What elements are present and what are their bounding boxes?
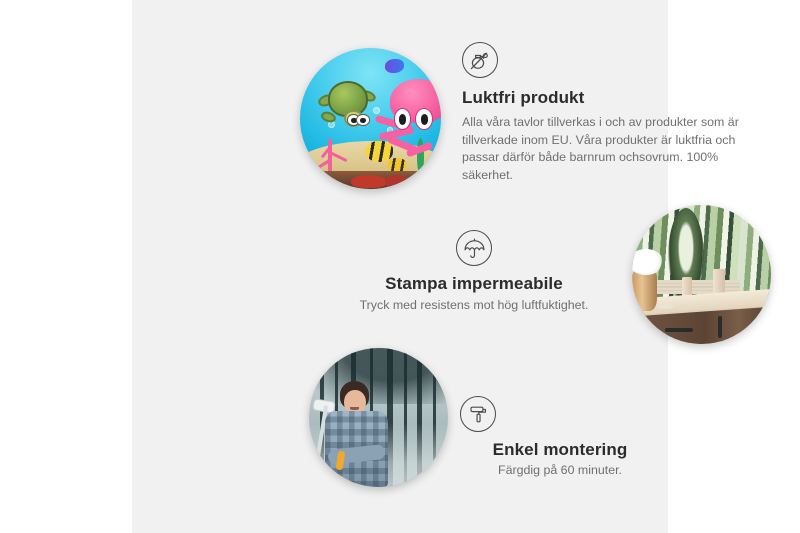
feature-odour-free: Luktfri produkt Alla våra tavlor tillver… xyxy=(462,42,762,185)
feature-body: Alla våra tavlor tillverkas i och av pro… xyxy=(462,114,762,184)
soap-dish-icon xyxy=(657,304,674,310)
feature-title: Luktfri produkt xyxy=(462,87,762,108)
person-with-roller xyxy=(323,381,409,487)
ocean-foreground-object xyxy=(385,175,408,188)
flower-icon xyxy=(632,249,663,274)
photo-bathroom-wallpaper xyxy=(632,205,771,344)
promo-graphic: Luktfri produkt Alla våra tavlor tillver… xyxy=(0,0,800,533)
turtle-icon xyxy=(317,79,379,133)
vase-icon xyxy=(632,269,657,311)
content-panel: Luktfri produkt Alla våra tavlor tillver… xyxy=(132,0,668,533)
feature-body: Tryck med resistens mot hög luftfuktighe… xyxy=(354,297,594,315)
feature-title: Stampa impermeabile xyxy=(354,273,594,294)
umbrella-icon xyxy=(456,230,492,266)
photo-ocean-wallpaper xyxy=(300,48,441,189)
feature-title: Enkel montering xyxy=(450,439,670,460)
ocean-foreground-object xyxy=(351,175,388,188)
feature-body: Färgdig på 60 minuter. xyxy=(450,462,670,480)
paint-roller-icon xyxy=(460,396,496,432)
fish-yellow-icon xyxy=(365,141,393,162)
door-handle-icon xyxy=(718,316,721,338)
feature-waterproof: Stampa impermeabile Tryck med resistens … xyxy=(354,230,594,315)
feature-easy-mounting: Enkel montering Färgdig på 60 minuter. xyxy=(450,396,670,480)
octopus-icon xyxy=(379,79,441,152)
photo-forest-wallpaper xyxy=(309,348,448,487)
no-fragrance-icon xyxy=(462,42,498,78)
drawer-handle-icon xyxy=(665,328,693,331)
coral-icon xyxy=(311,135,359,172)
